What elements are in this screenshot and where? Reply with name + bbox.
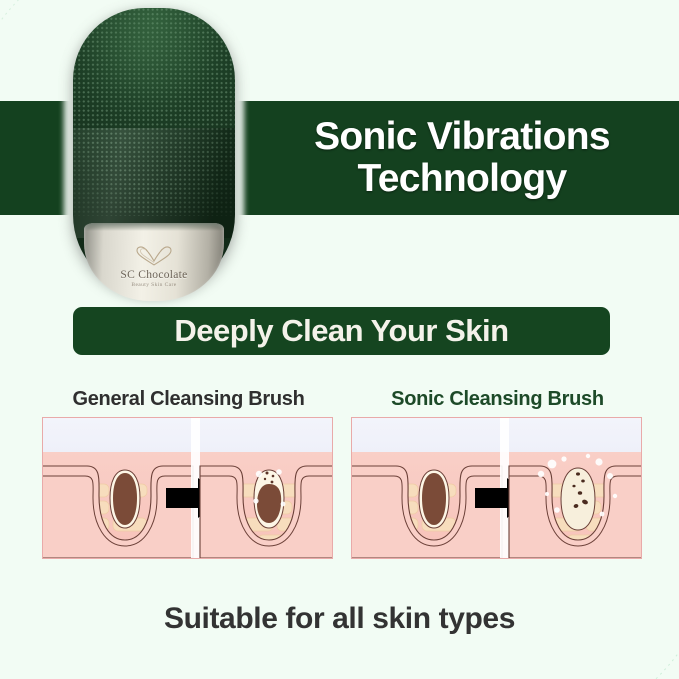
- product-silver-base: SC Chocolate Beauty Skin Care: [84, 223, 224, 301]
- footer-text: Suitable for all skin types: [0, 602, 679, 636]
- base-top-shadow: [84, 223, 224, 231]
- comparison-column-general: General Cleansing Brush: [42, 383, 335, 559]
- product-image-facial-cleansing-brush: SC Chocolate Beauty Skin Care: [73, 8, 235, 293]
- diagram-sonic-cleansing-brush: [351, 417, 642, 559]
- pill-banner-deeply-clean: Deeply Clean Your Skin: [73, 307, 610, 355]
- headline-text-group: Sonic Vibrations Technology: [262, 101, 662, 215]
- pill-banner-text: Deeply Clean Your Skin: [174, 313, 508, 349]
- product-infographic: Sonic Vibrations Technology SC Chocola: [0, 0, 679, 679]
- body-sheen: [73, 128, 235, 238]
- headline-line-1: Sonic Vibrations: [314, 116, 610, 158]
- diagram-general-cleansing-brush: [42, 417, 333, 559]
- comparison-label-sonic: Sonic Cleansing Brush: [351, 383, 644, 415]
- headline-line-2: Technology: [358, 158, 567, 200]
- comparison-section: General Cleansing Brush: [0, 383, 679, 563]
- product-brand-name: SC Chocolate: [84, 269, 224, 281]
- comparison-label-general: General Cleansing Brush: [42, 383, 335, 415]
- comparison-column-sonic: Sonic Cleansing Brush: [351, 383, 644, 559]
- product-brand-tagline: Beauty Skin Care: [84, 282, 224, 288]
- heart-icon: [131, 245, 177, 267]
